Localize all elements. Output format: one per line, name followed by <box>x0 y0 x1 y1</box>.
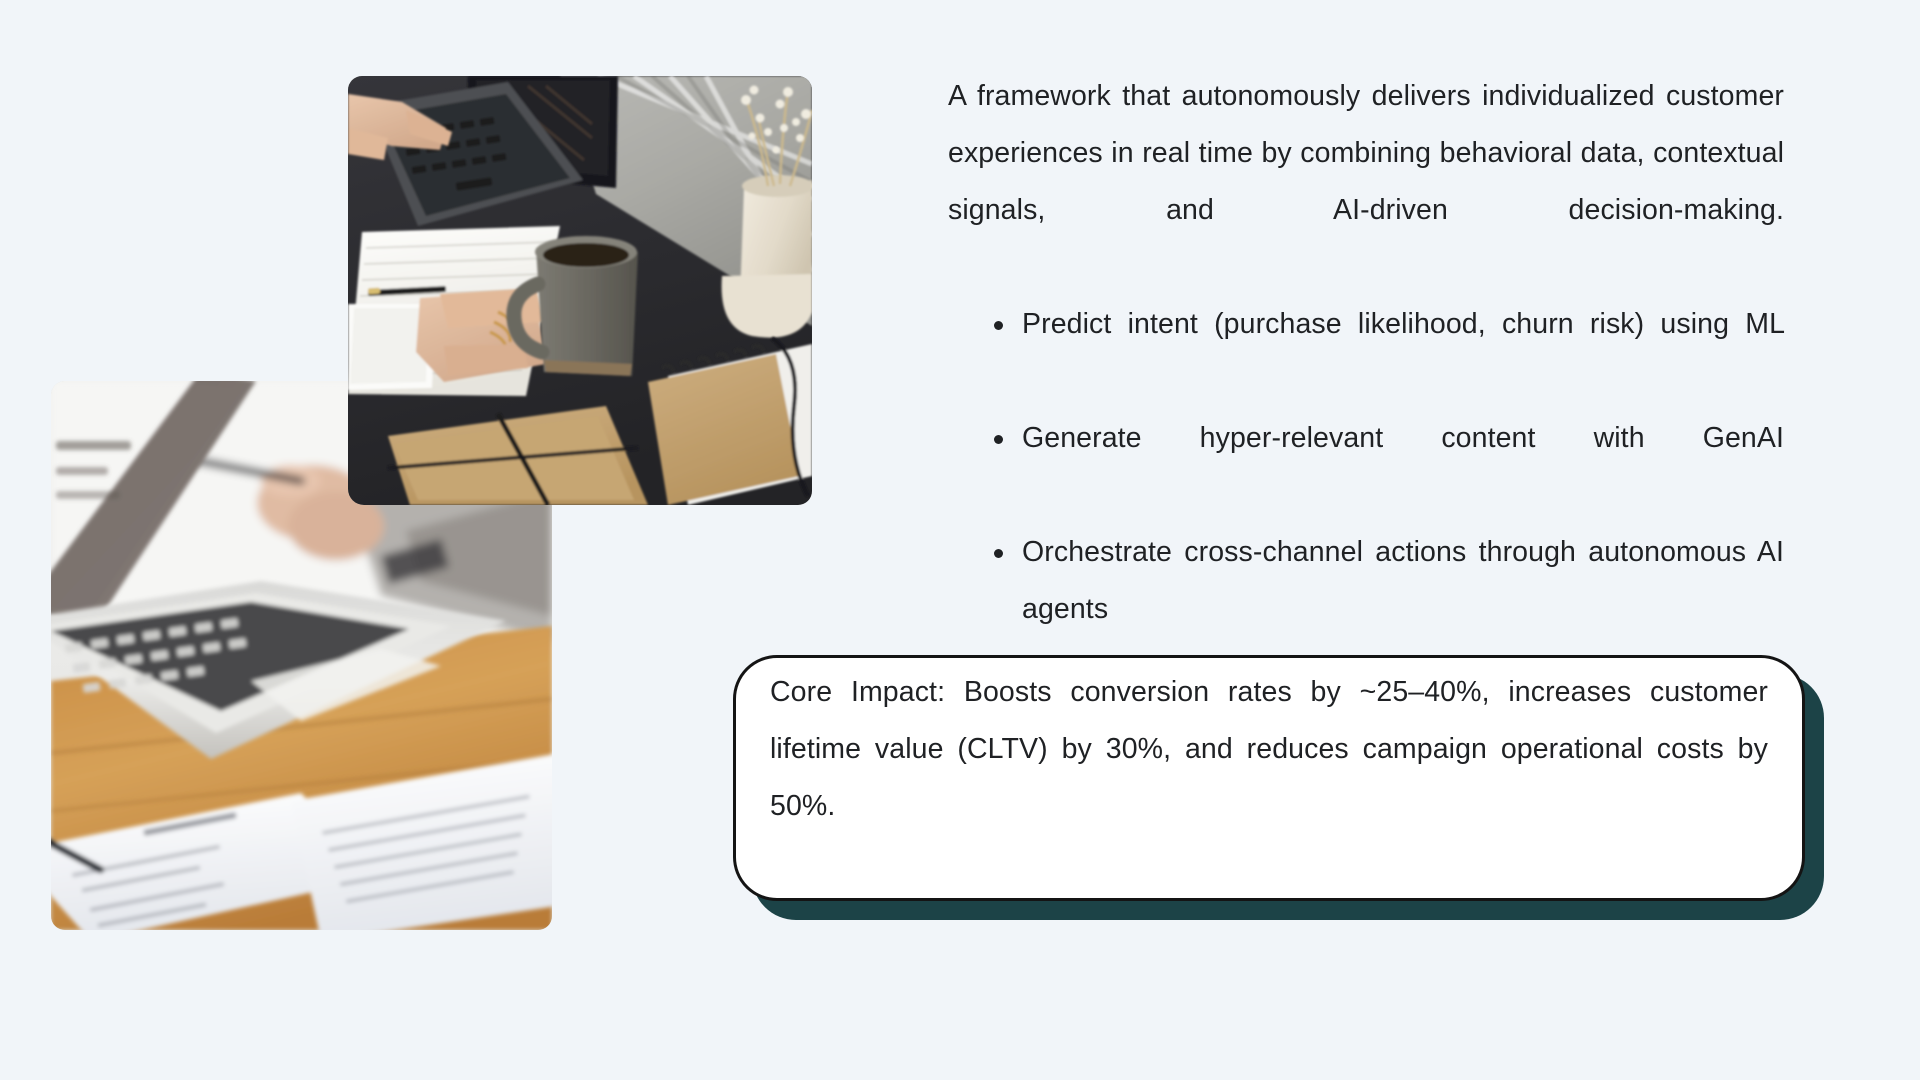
desk-mug-illustration <box>348 76 812 505</box>
core-impact-callout: Core Impact: Boosts conversion rates by … <box>733 655 1823 920</box>
content-column: A framework that autonomously delivers i… <box>948 68 1784 695</box>
list-item-label: Generate hyper-relevant content with Gen… <box>1022 422 1784 454</box>
bullet-dot-icon <box>994 321 1003 330</box>
slide-canvas: A framework that autonomously delivers i… <box>0 0 1920 1080</box>
list-item-label: Predict intent (purchase likelihood, chu… <box>1022 308 1784 340</box>
list-item-label: Orchestrate cross-channel actions throug… <box>1022 536 1784 625</box>
callout-text: Core Impact: Boosts conversion rates by … <box>770 664 1768 892</box>
lead-paragraph: A framework that autonomously delivers i… <box>948 68 1784 296</box>
callout-box: Core Impact: Boosts conversion rates by … <box>733 655 1805 901</box>
capability-bullet-list: Predict intent (purchase likelihood, chu… <box>948 296 1784 695</box>
desk-mug-photo <box>348 76 812 505</box>
bullet-dot-icon <box>994 549 1003 558</box>
bullet-dot-icon <box>994 435 1003 444</box>
list-item: Generate hyper-relevant content with Gen… <box>994 410 1784 524</box>
list-item: Predict intent (purchase likelihood, chu… <box>994 296 1784 410</box>
